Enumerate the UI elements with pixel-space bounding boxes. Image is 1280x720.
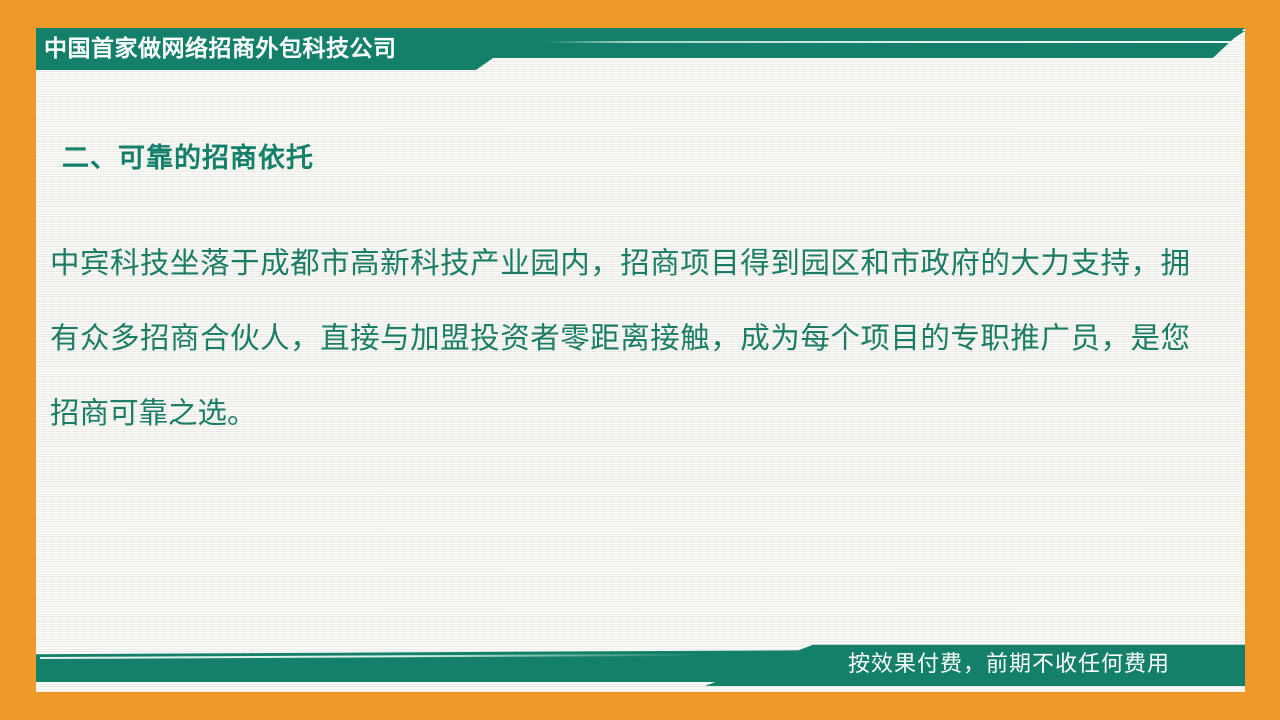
header-hairline-divider: [545, 41, 1245, 43]
body-paragraph: 中宾科技坐落于成都市高新科技产业园内，招商项目得到园区和市政府的大力支持，拥有众…: [50, 226, 1190, 451]
frame-left: [0, 0, 36, 720]
frame-top: [0, 0, 1280, 28]
slide: 中国首家做网络招商外包科技公司 二、可靠的招商依托 中宾科技坐落于成都市高新科技…: [0, 0, 1280, 720]
header-title: 中国首家做网络招商外包科技公司: [44, 30, 397, 68]
footer-tagline: 按效果付费，前期不收任何费用: [848, 648, 1170, 682]
frame-right: [1245, 0, 1280, 720]
frame-bottom: [0, 692, 1280, 720]
section-heading: 二、可靠的招商依托: [62, 136, 314, 175]
